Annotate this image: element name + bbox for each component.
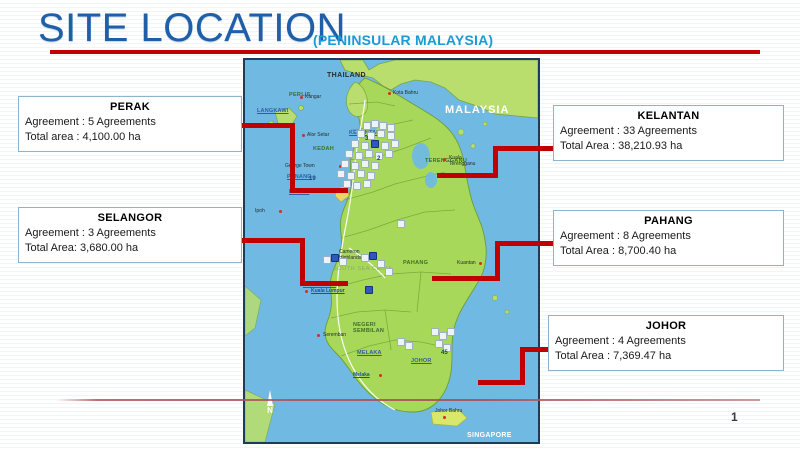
- compass-icon: N: [267, 390, 273, 415]
- callout-kelantan-area: Total Area : 38,210.93 ha: [560, 139, 777, 154]
- slide-canvas: SITE LOCATION (PENINSULAR MALAYSIA): [0, 0, 800, 450]
- callout-johor-title: JOHOR: [555, 319, 777, 334]
- city-dot-kangar: [300, 96, 303, 99]
- connector-pahang-h1: [495, 241, 555, 246]
- page-number: 1: [731, 410, 738, 424]
- compass-north-label: N: [267, 406, 273, 415]
- connector-selangor-h2: [300, 281, 348, 286]
- callout-perak[interactable]: PERAK Agreement : 5 Agreements Total are…: [18, 96, 242, 152]
- callout-selangor-agreement: Agreement : 3 Agreements: [25, 226, 235, 241]
- callout-pahang-agreement: Agreement : 8 Agreements: [560, 229, 777, 244]
- callout-johor-agreement: Agreement : 4 Agreements: [555, 334, 777, 349]
- title-divider: [50, 50, 760, 54]
- footer-divider: [55, 399, 760, 401]
- page-subtitle: (PENINSULAR MALAYSIA): [313, 32, 493, 48]
- callout-perak-title: PERAK: [25, 100, 235, 115]
- title-block: SITE LOCATION (PENINSULAR MALAYSIA): [38, 6, 346, 50]
- callout-selangor[interactable]: SELANGOR Agreement : 3 Agreements Total …: [18, 207, 242, 263]
- connector-pahang-v: [495, 241, 500, 281]
- callout-pahang[interactable]: PAHANG Agreement : 8 Agreements Total Ar…: [553, 210, 784, 266]
- callout-selangor-title: SELANGOR: [25, 211, 235, 226]
- page-title: SITE LOCATION: [38, 6, 346, 50]
- city-dot-kuala-lumpur: [305, 290, 308, 293]
- callout-kelantan[interactable]: KELANTAN Agreement : 33 Agreements Total…: [553, 105, 784, 161]
- city-dot-kota-bahru: [388, 92, 391, 95]
- city-dot-ipoh: [279, 210, 282, 213]
- city-dot-alor-setar: [302, 134, 305, 137]
- callout-johor-area: Total Area : 7,369.47 ha: [555, 349, 777, 364]
- city-dot-seremban: [317, 334, 320, 337]
- city-dot-melaka: [379, 374, 382, 377]
- callout-kelantan-title: KELANTAN: [560, 109, 777, 124]
- connector-johor-h2: [478, 380, 525, 385]
- connector-perak-h1: [240, 123, 295, 128]
- callout-pahang-title: PAHANG: [560, 214, 777, 229]
- callout-perak-area: Total area : 4,100.00 ha: [25, 130, 235, 145]
- connector-perak-v: [290, 123, 295, 193]
- callout-perak-agreement: Agreement : 5 Agreements: [25, 115, 235, 130]
- callout-johor[interactable]: JOHOR Agreement : 4 Agreements Total Are…: [548, 315, 784, 371]
- connector-pahang-h2: [432, 276, 500, 281]
- city-dot-kuala-terengganu: [443, 158, 446, 161]
- city-dot-johor-bahru: [443, 416, 446, 419]
- connector-selangor-h1: [240, 238, 305, 243]
- callout-pahang-area: Total Area : 8,700.40 ha: [560, 244, 777, 259]
- connector-selangor-v: [300, 238, 305, 286]
- callout-selangor-area: Total Area: 3,680.00 ha: [25, 241, 235, 256]
- connector-kelantan-h1: [493, 146, 555, 151]
- connector-kelantan-h2: [437, 173, 498, 178]
- site-marker-pahang-single: [397, 220, 405, 228]
- connector-perak-h2: [290, 188, 348, 193]
- callout-kelantan-agreement: Agreement : 33 Agreements: [560, 124, 777, 139]
- city-dot-kuantan: [479, 262, 482, 265]
